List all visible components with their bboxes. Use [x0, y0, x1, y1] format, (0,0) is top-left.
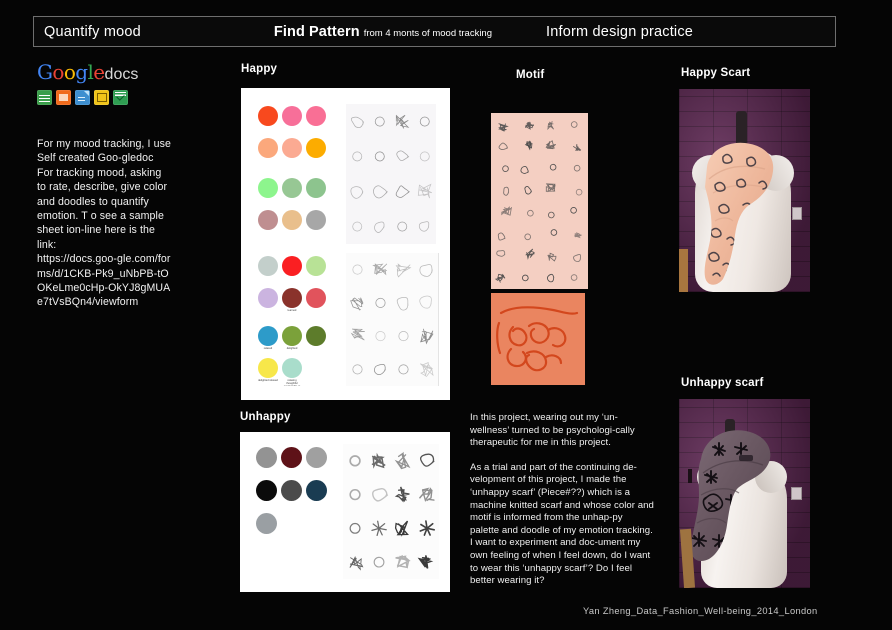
doodle-mark [350, 456, 360, 466]
motif-doodle [546, 252, 557, 263]
swatch-label [306, 159, 326, 166]
doodle-mark [399, 365, 408, 374]
color-swatch [306, 178, 326, 206]
color-swatch [282, 106, 302, 134]
swatch-label [282, 127, 302, 134]
doodle-mark [396, 186, 409, 198]
doodle-mark [353, 365, 362, 374]
doodle-mark [420, 117, 429, 126]
swatch-dot [282, 326, 302, 346]
motif-doodle [576, 189, 582, 195]
doc-text-lines [78, 97, 85, 98]
header-quantify-label: Quantify mood [44, 24, 141, 40]
knitted-swatch-photo [491, 293, 585, 385]
color-swatch [306, 480, 327, 509]
section-title-happy: Happy [241, 63, 277, 75]
doodle-mark [419, 222, 429, 232]
wall-dark-mark [688, 469, 692, 483]
happy-palette-group-1 [258, 106, 326, 166]
swatch-dot [258, 106, 278, 126]
swatch-label [281, 502, 302, 509]
swatch-dot [258, 178, 278, 198]
swatch-dot [306, 106, 326, 126]
swatch-dot [282, 256, 302, 276]
doodle-mark [375, 117, 384, 126]
doodle-mark [420, 152, 429, 161]
motif-doodle [502, 186, 511, 196]
swatch-label [306, 127, 326, 134]
doodle-mark [353, 152, 362, 161]
doodle-mark [420, 264, 432, 276]
swatch-label [306, 347, 326, 354]
color-swatch [258, 288, 278, 316]
swatch-label [306, 199, 326, 206]
doodle-mark [351, 298, 363, 310]
color-swatch [256, 447, 277, 476]
logo-letter-o2: o [64, 62, 75, 82]
doodle-mark [421, 454, 435, 466]
swatch-label [258, 231, 278, 238]
color-swatch [258, 210, 278, 238]
doodle-mark [351, 187, 363, 199]
motif-doodle [527, 210, 533, 216]
motif-doodle [571, 275, 577, 281]
swatch-dot [281, 480, 302, 501]
google-drawings-icon[interactable] [94, 90, 109, 105]
motif-doodle [495, 273, 505, 283]
doodle-mark [420, 489, 434, 501]
section-title-unhappy: Unhappy [240, 411, 291, 423]
motif-doodle [524, 186, 533, 195]
swatch-label [306, 309, 326, 316]
swatch-label: delighted [282, 347, 302, 354]
header-cell-find-pattern: Find Pattern from 4 monts of mood tracki… [274, 24, 492, 40]
swatch-label [282, 277, 302, 284]
doc-corner-fold [84, 91, 89, 96]
swatch-dot [256, 513, 277, 534]
swatch-label: relaxing thoughtful comfortable at mind [282, 379, 302, 386]
doodle-grid-svg [346, 253, 438, 386]
swatch-dot [282, 358, 302, 378]
motif-doodle [551, 229, 558, 236]
doodle-mark [373, 489, 388, 501]
logo-letter-o1: o [52, 62, 63, 82]
motif-doodle [548, 211, 555, 218]
doodle-mark [397, 487, 410, 501]
motif-doodle [499, 123, 508, 131]
swatch-label [306, 277, 326, 284]
unhappy-scarf-photo [679, 399, 810, 588]
swatch-label [258, 277, 278, 284]
swatch-dot [282, 288, 302, 308]
swatch-dot [306, 447, 327, 468]
doodle-grid-svg [343, 444, 439, 579]
swatch-label [282, 231, 302, 238]
color-swatch [258, 106, 278, 134]
color-swatch: delighted [282, 326, 302, 354]
motif-doodle [520, 165, 530, 174]
project-description: In this project, wearing out my ‘un-well… [470, 412, 654, 588]
doodle-mark [396, 264, 410, 277]
happy-panel-card: learned relaxeddelighteddelighted relaxe… [241, 88, 450, 400]
swatch-dot [282, 210, 302, 230]
swatch-dot [258, 256, 278, 276]
color-swatch [258, 138, 278, 166]
header-cell-inform: Inform design practice [492, 24, 693, 40]
motif-doodle [525, 140, 533, 149]
doodle-mark [352, 329, 365, 340]
google-slides-icon[interactable] [56, 90, 71, 105]
motif-doodle [573, 144, 580, 153]
doodle-mark [397, 151, 409, 161]
unhappy-panel-card [240, 432, 450, 592]
doodle-mark [396, 556, 409, 567]
logo-letter-e: e [93, 62, 104, 82]
swatch-label: relaxed [258, 347, 278, 354]
color-swatch [282, 138, 302, 166]
swatch-dot [256, 447, 277, 468]
swatch-dot [306, 210, 326, 230]
color-swatch [306, 138, 326, 166]
happy-palette-group-4: relaxeddelighteddelighted relaxedrelaxin… [258, 326, 326, 386]
doodle-mark [397, 297, 408, 310]
header-find-pattern-subtitle: from 4 monts of mood tracking [364, 28, 492, 39]
motif-doodle [573, 254, 581, 262]
unhappy-doodle-sheet [343, 444, 439, 579]
motif-doodle [521, 274, 529, 282]
sidebar-paragraph-1: For my mood tracking, I use Self created… [37, 137, 172, 166]
sidebar-form-link[interactable]: https://docs.goo-gle.com/forms/d/1CKB-Pk… [37, 252, 172, 310]
swatch-dot [258, 138, 278, 158]
swatch-label [256, 502, 277, 509]
color-swatch [306, 326, 326, 354]
motif-doodle [501, 206, 511, 217]
swatch-label [258, 159, 278, 166]
doodle-mark [353, 222, 362, 231]
doodle-mark [373, 186, 387, 198]
color-swatch: relaxed [258, 326, 278, 354]
doodle-mark [418, 184, 432, 198]
happy-scarf-photo [679, 89, 810, 292]
description-paragraph-2: As a trial and part of the continuing de… [470, 462, 654, 588]
header-cell-quantify: Quantify mood [34, 24, 141, 40]
swatch-dot [306, 256, 326, 276]
doodle-mark [376, 298, 385, 307]
swatch-dot [256, 480, 277, 501]
swatch-dot [281, 447, 302, 468]
color-swatch [306, 106, 326, 134]
doodle-mark [398, 222, 407, 231]
logo-docs-word: docs [105, 66, 139, 83]
footer-credit: Yan Zheng_Data_Fashion_Well-being_2014_L… [583, 606, 818, 616]
google-apps-icon-row [37, 90, 172, 105]
motif-doodle [574, 232, 582, 239]
motif-doodle [502, 166, 508, 172]
swatch-label [282, 159, 302, 166]
sidebar: Googledocs For my mood tracking, I use S… [37, 62, 172, 310]
swatch-dot [282, 178, 302, 198]
color-swatch: delighted relaxed [258, 358, 278, 386]
swatch-label [281, 469, 302, 476]
swatch-dot [282, 106, 302, 126]
doodle-mark [353, 265, 362, 274]
google-docs-icon[interactable] [75, 90, 90, 105]
motif-doodle [499, 142, 509, 150]
swatch-dot [258, 326, 278, 346]
swatch-dot [306, 480, 327, 501]
doodle-mark [351, 117, 363, 127]
doodle-mark [372, 521, 386, 535]
doodle-mark [399, 331, 408, 340]
motif-doodle [496, 250, 505, 257]
color-swatch [282, 256, 302, 284]
header-bar: Quantify mood Find Pattern from 4 monts … [33, 16, 836, 47]
google-sheets-icon[interactable] [37, 90, 52, 105]
doodle-mark [420, 363, 433, 377]
doodle-mark [376, 331, 385, 340]
swatch-label [282, 199, 302, 206]
motif-doodle [546, 274, 555, 283]
motif-doodle [497, 232, 506, 241]
swatch-label [258, 199, 278, 206]
doodle-mark [375, 152, 384, 161]
color-swatch [281, 447, 302, 476]
slides-frame [59, 94, 68, 101]
doodle-mark [373, 264, 387, 275]
color-swatch [258, 256, 278, 284]
section-title-unhappy-scarf: Unhappy scarf [681, 377, 763, 389]
motif-doodle [525, 249, 535, 259]
swatch-label [258, 127, 278, 134]
color-swatch [306, 210, 326, 238]
motif-doodle [570, 121, 577, 128]
color-swatch [256, 480, 277, 509]
logo-letter-g: G [37, 62, 52, 82]
motif-doodle [550, 164, 557, 171]
doodle-mark [350, 490, 360, 500]
swatch-label [306, 469, 327, 476]
happy-scarf-shape [679, 89, 810, 292]
header-inform-label: Inform design practice [546, 24, 693, 40]
doodle-mark [420, 521, 434, 535]
color-swatch [258, 178, 278, 206]
doodle-mark [396, 115, 408, 128]
wooden-post [679, 249, 688, 292]
swatch-label: learned [282, 309, 302, 316]
motif-doodle [525, 121, 535, 130]
happy-doodle-sheet-bottom [346, 253, 439, 386]
swatch-dot [258, 210, 278, 230]
google-forms-icon[interactable] [113, 90, 128, 105]
doodle-mark [374, 557, 384, 567]
swatch-label [306, 502, 327, 509]
doodle-grid-svg [346, 104, 436, 244]
color-swatch [306, 288, 326, 316]
color-swatch [256, 513, 277, 542]
color-swatch [281, 480, 302, 509]
swatch-label [256, 535, 277, 542]
motif-doodle [546, 184, 555, 192]
wall-switch-plate [791, 487, 802, 500]
header-find-pattern-label: Find Pattern [274, 24, 360, 40]
motif-doodle [574, 165, 581, 172]
wall-switch-plate [792, 207, 802, 220]
doodle-mark [419, 555, 430, 568]
swatch-dot [282, 138, 302, 158]
logo-letter-g2: g [75, 62, 87, 82]
color-swatch [282, 178, 302, 206]
motif-doodle [570, 206, 578, 214]
swatch-embroidered-doodle [491, 293, 585, 385]
swatch-label [256, 469, 277, 476]
happy-palette-group-3: learned [258, 256, 326, 316]
motif-doodle [546, 140, 557, 150]
motif-doodle [547, 121, 555, 131]
swatch-dot [306, 326, 326, 346]
section-title-motif: Motif [516, 69, 544, 81]
sidebar-paragraph-2: For tracking mood, asking to rate, descr… [37, 166, 172, 252]
doodle-mark [350, 523, 360, 533]
motif-doodle-svg [491, 113, 588, 289]
google-docs-logo: Googledocs [37, 62, 172, 83]
section-title-happy-scarf: Happy Scart [681, 67, 750, 79]
motif-pattern-panel [491, 113, 588, 289]
doodle-mark [420, 329, 433, 344]
unhappy-palette-group [256, 447, 327, 542]
color-swatch: learned [282, 288, 302, 316]
happy-doodle-sheet-top [346, 104, 436, 244]
swatch-dot [258, 288, 278, 308]
color-swatch [282, 210, 302, 238]
doodle-mark [374, 364, 385, 374]
swatch-label [306, 231, 326, 238]
swatch-dot [306, 138, 326, 158]
swatch-dot [258, 358, 278, 378]
doodle-mark [350, 557, 363, 569]
swatch-dot [306, 178, 326, 198]
doodle-mark [372, 455, 385, 467]
happy-palette-group-2 [258, 178, 326, 238]
swatch-label [258, 309, 278, 316]
color-swatch [306, 447, 327, 476]
color-swatch: relaxing thoughtful comfortable at mind [282, 358, 302, 386]
doodle-mark [396, 521, 408, 535]
color-swatch [306, 256, 326, 284]
motif-doodle [524, 233, 532, 241]
doodle-mark [420, 296, 432, 308]
drawings-shape [97, 93, 107, 102]
description-paragraph-1: In this project, wearing out my ‘un-well… [470, 412, 654, 450]
doodle-mark [397, 454, 409, 469]
swatch-dot [306, 288, 326, 308]
swatch-label: delighted relaxed [258, 379, 278, 386]
sheets-grid-lines [39, 93, 50, 103]
doodle-mark [375, 222, 385, 233]
